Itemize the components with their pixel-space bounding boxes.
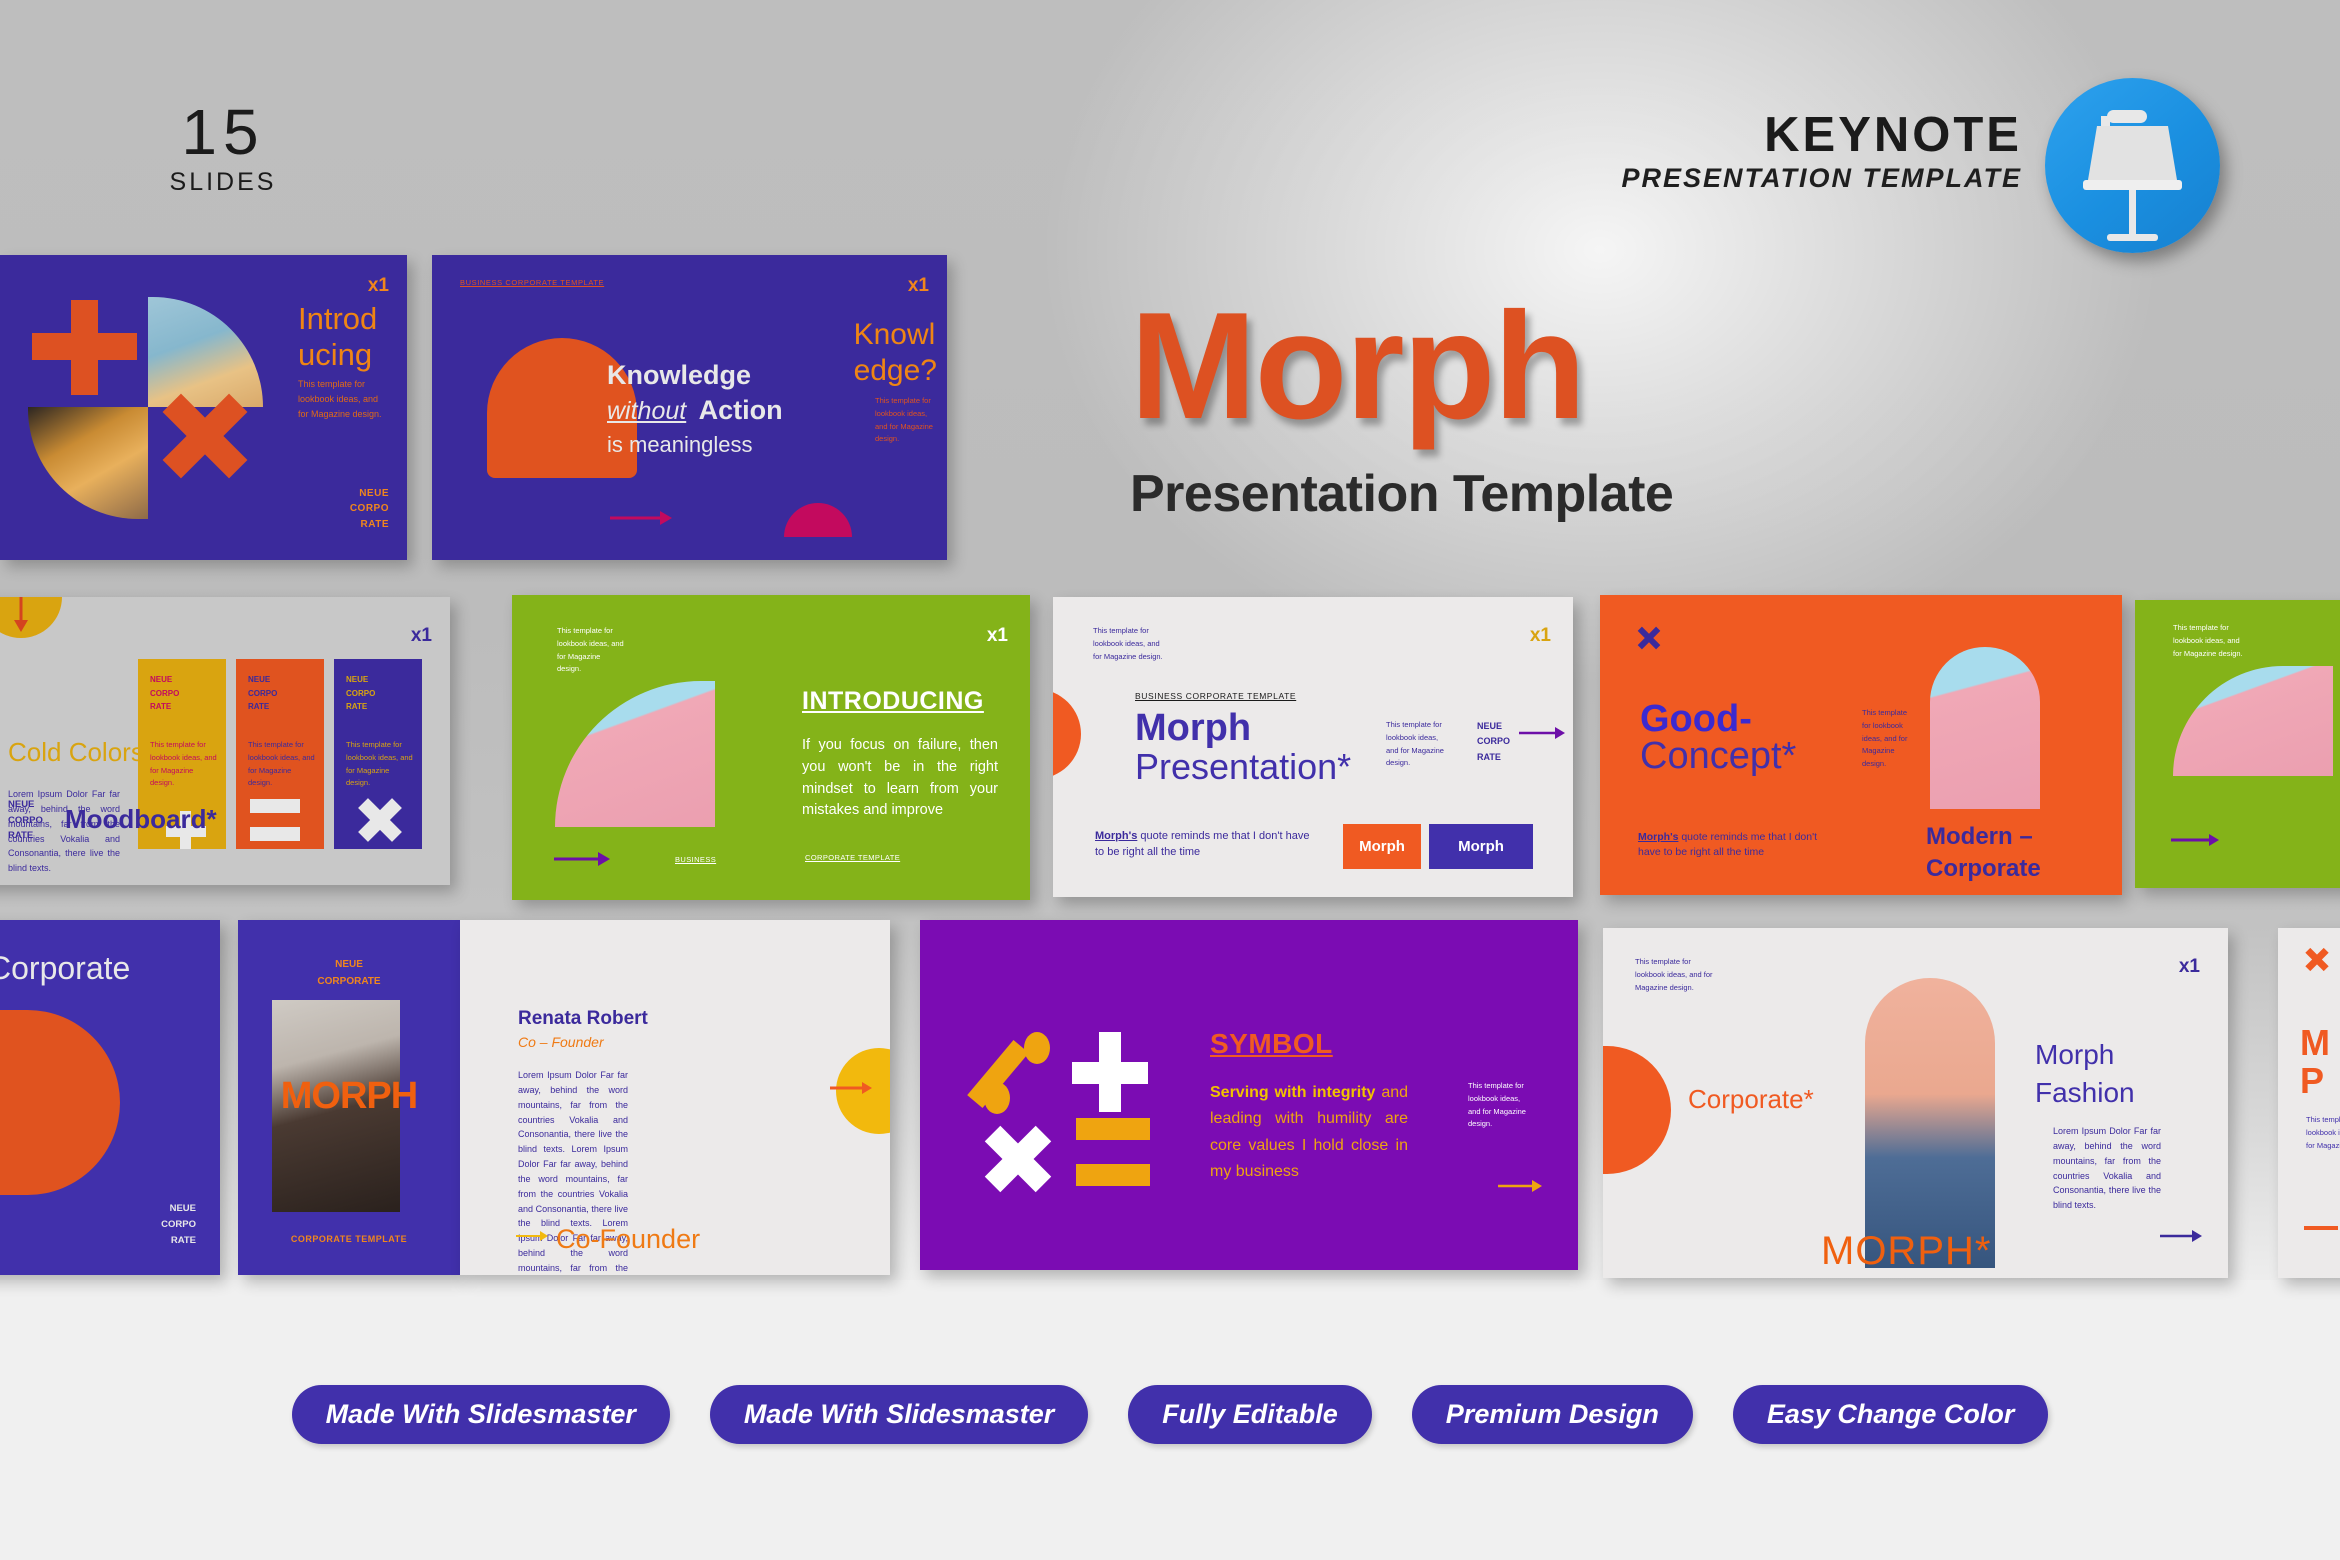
keynote-podium-icon [2045,78,2220,253]
slide-note: This template for lookbook ideas, and fo… [298,377,390,422]
slide-eyebrow: BUSINESS CORPORATE TEMPLATE [460,277,604,290]
slide-note: This template for lookbook ideas, and fo… [1635,956,1715,994]
card-note: This template for lookbook ideas, and fo… [346,739,414,790]
photo-woman-hair [28,407,148,519]
slides-count-label: SLIDES [158,168,288,197]
plus-icon-bar-v [1099,1032,1121,1112]
photo-man-fashion [1865,978,1995,1268]
slide-body: Serving with integrity and leading with … [1210,1080,1408,1186]
slide-thumbnail-morph-presentation[interactable]: This template for lookbook ideas, and fo… [1053,597,1573,897]
slide-heading: SYMBOL [1210,1028,1333,1060]
half-circle-shape [784,503,852,537]
keynote-title: KEYNOTE [1621,110,2022,161]
brand-title: Morph [1130,290,1673,442]
slide-thumbnail-morph-fashion[interactable]: This template for lookbook ideas, and fo… [1603,928,2228,1278]
slide-note: This template for lookbook ideas, and fo… [557,625,625,676]
slide-footer-left: BUSINESS [675,854,716,867]
slide-title: Introd ucing [298,301,377,372]
slide-footer-label: NEUE CORPO RATE [161,1201,196,1249]
photo-pink-house [555,681,715,827]
slide-thumbnail-symbol[interactable]: SYMBOL Serving with integrity and leadin… [920,920,1578,1270]
slide-title-light: Presentation* [1135,749,1351,785]
slide-side-label: NEUE CORPO RATE [1477,719,1510,765]
equals-icon-bar-bottom [1076,1164,1150,1186]
dot-icon-top [1024,1032,1050,1064]
slide-note: This template for lookbook ideas, and fo… [1862,707,1914,771]
slide-side-note: This template for lookbook ideas, and fo… [1386,719,1444,770]
person-name: Renata Robert [518,1008,648,1030]
slide-title: Corporate [0,950,130,987]
arrow-right-icon [1498,1178,1542,1194]
moodboard-card-indigo[interactable]: NEUE CORPO RATE This template for lookbo… [334,659,422,849]
arrow-right-icon [2160,1228,2202,1244]
morph-button-violet[interactable]: Morph [1429,824,1533,869]
arrow-right-small-icon [516,1229,548,1243]
badge-fully-editable[interactable]: Fully Editable [1128,1385,1372,1444]
slide-thumbnail-morph-portrait[interactable]: NEUE CORPORATE MORPH CORPORATE TEMPLATE [238,920,460,1275]
slide-thumbnail-introducing[interactable]: x1 Introd ucing This template for lookbo… [0,255,407,560]
slides-count: 15 SLIDES [158,100,288,197]
slide-footer: CORPORATE TEMPLATE [238,1232,460,1247]
slide-overlay-word: MORPH [238,1075,460,1118]
feature-badges: Made With Slidesmaster Made With Slidesm… [0,1385,2340,1444]
half-circle-shape [1603,1046,1671,1174]
badge-premium-design[interactable]: Premium Design [1412,1385,1693,1444]
keynote-subtitle: PRESENTATION TEMPLATE [1621,163,2022,194]
card-note: This template for lookbook ideas, and fo… [150,739,218,790]
slide-title-bold: Morph [1135,709,1251,747]
badge-easy-change-color[interactable]: Easy Change Color [1733,1385,2049,1444]
photo-pink-house [2173,666,2333,776]
badge-made-with-slidesmaster-2[interactable]: Made With Slidesmaster [710,1385,1088,1444]
brand-subtitle: Presentation Template [1130,464,1673,524]
slide-badge-x1: x1 [1530,625,1551,647]
slide-footer-label: NEUE CORPO RATE [350,486,389,533]
badge-made-with-slidesmaster-1[interactable]: Made With Slidesmaster [292,1385,670,1444]
slide-note: This template for lookbook ideas, and fo… [1468,1080,1530,1131]
equals-icon-bar-top [1076,1118,1150,1140]
slide-badge-x1: x1 [368,275,389,297]
slide-note: This template for lookbook ideas, and fo… [1093,625,1163,663]
slide-thumbnail-corporate-edge[interactable]: Corporate e. an NEUE CORPO RATE [0,920,220,1275]
slide-moodboard-word: Moodboard* [65,804,217,835]
slide-thumbnail-moodboard[interactable]: x1 Cold Colors Lorem Ipsum Dolor Far far… [0,597,450,885]
slide-fragment-text: M P [2300,1024,2330,1100]
pill-shape [0,1010,120,1195]
slide-note: This template for lookbook ideas, and fo… [875,395,937,446]
slide-footer-right: CORPORATE TEMPLATE [805,852,900,865]
arrow-right-icon [610,508,672,528]
card-label: NEUE CORPO RATE [150,673,179,714]
slide-label: NEUE CORPORATE [238,956,460,990]
slide-big-word: MORPH* [1821,1229,1991,1274]
equals-icon-bar-bottom [250,827,300,841]
half-circle-shape [1053,689,1081,779]
person-role: Co – Founder [518,1034,604,1050]
slide-heading: INTRODUCING [802,687,984,716]
arrow-down-icon [12,597,30,633]
arrow-right-icon [2171,832,2219,848]
slide-badge-x1: x1 [411,625,432,647]
morph-button-orange[interactable]: Morph [1343,824,1421,869]
brand-block: Morph Presentation Template [1130,290,1673,524]
equals-icon-bar-top [250,799,300,813]
half-circle-shape [0,597,62,638]
slide-thumbnail-good-concept[interactable]: Good- Concept* This template for lookboo… [1600,595,2122,895]
slide-corporate-label: Corporate* [1688,1084,1814,1115]
slide-caption: Modern – Corporate [1926,821,2041,886]
slide-body: Lorem Ipsum Dolor Far far away, behind t… [2053,1124,2161,1213]
slide-badge-x1: x1 [2179,956,2200,978]
slide-quote: Morph's quote reminds me that I don't ha… [1638,830,1840,860]
card-label: NEUE CORPO RATE [248,673,277,714]
slide-badge-x1: x1 [987,625,1008,647]
arrow-right-icon [830,1080,872,1096]
slide-title-bold: Good- [1640,700,1752,738]
moodboard-card-orange[interactable]: NEUE CORPO RATE This template for lookbo… [236,659,324,849]
dot-icon-bottom [984,1082,1010,1114]
photo-woman-sky [148,297,263,407]
slide-title: Morph Fashion [2035,1036,2135,1112]
slide-badge-x1: x1 [908,275,929,297]
slide-note: This template for lookbook ideas, and fo… [2173,622,2243,660]
slide-note: This template for lookbook ideas, and fo… [2306,1114,2340,1152]
photo-pink-house-arch [1930,647,2040,809]
slide-heading: Knowledge without Action is meaningless [607,360,783,458]
slide-footer-label: NEUE CORPO RATE [8,797,43,843]
slides-count-number: 15 [158,100,288,164]
slide-title: Cold Colors [8,737,144,768]
slide-thumbnail-green-edge[interactable]: This template for lookbook ideas, and fo… [2135,600,2340,888]
slide-thumbnail-edge-fragment[interactable]: M P This template for lookbook ideas, an… [2278,928,2340,1278]
slide-body: If you focus on failure, then you won't … [802,735,998,822]
card-label: NEUE CORPO RATE [346,673,375,714]
slide-eyebrow: BUSINESS CORPORATE TEMPLATE [1135,689,1296,703]
plus-icon-bar-v [71,300,98,395]
keynote-branding: KEYNOTE PRESENTATION TEMPLATE [1621,110,2022,194]
slide-side-title: Knowl edge? [854,317,937,389]
slide-thumbnail-knowledge[interactable]: BUSINESS CORPORATE TEMPLATE x1 Knowledge… [432,255,947,560]
slide-quote: Morph's quote reminds me that I don't ha… [1095,829,1313,861]
arrow-right-icon [2304,1226,2338,1230]
arrow-right-icon [1519,725,1565,741]
slide-title-light: Concept* [1640,737,1796,775]
arrow-right-icon [554,850,610,868]
slide-thumbnail-introducing-green[interactable]: This template for lookbook ideas, and fo… [512,595,1030,900]
person-cofounder-label: Co-Founder [556,1224,700,1255]
slide-thumbnail-renata-robert[interactable]: Renata Robert Co – Founder Lorem Ipsum D… [460,920,890,1275]
card-note: This template for lookbook ideas, and fo… [248,739,316,790]
